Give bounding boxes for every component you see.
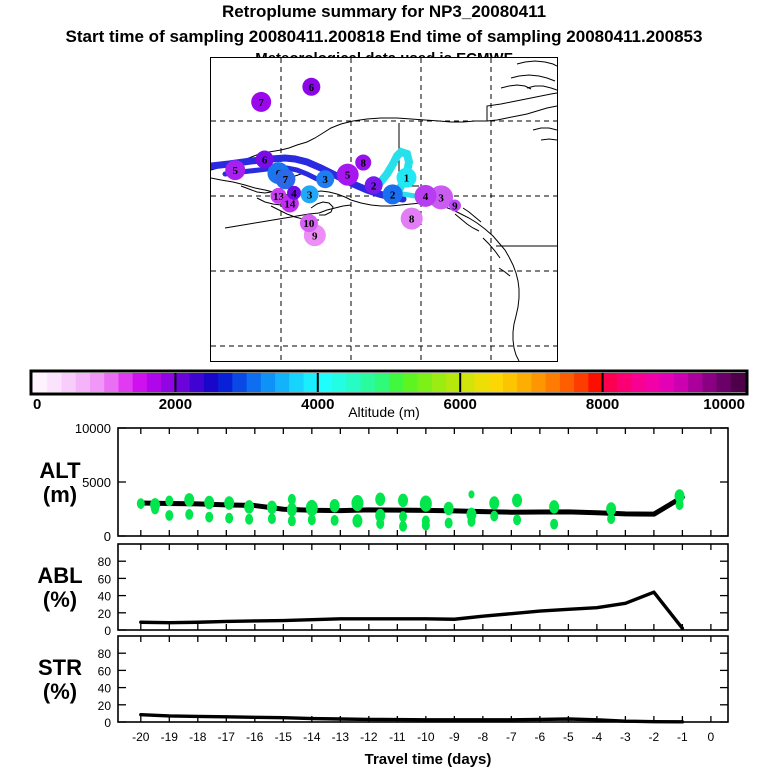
scatter-point (549, 500, 559, 513)
scatter-point (288, 515, 296, 526)
scatter-point (445, 518, 453, 529)
colorbar-swatch (218, 373, 233, 392)
colorbar-swatch (204, 373, 219, 392)
panels-canvas: 0500010000ALT(m)020406080ABL(%)020406080… (0, 420, 768, 768)
scatter-point (513, 514, 521, 525)
plume-centroid[interactable]: 6 (256, 151, 274, 169)
scatter-point (375, 493, 385, 507)
colorbar-swatch (517, 373, 532, 392)
colorbar-swatch (275, 373, 290, 392)
y-tick-label: 40 (98, 682, 112, 696)
colorbar-swatch (617, 373, 632, 392)
x-tick-label: -19 (161, 730, 179, 744)
colorbar-swatch (731, 373, 746, 392)
scatter-point (468, 490, 474, 498)
x-tick-label: -20 (132, 730, 150, 744)
scatter-point (489, 496, 499, 510)
colorbar-swatch (674, 373, 689, 392)
plume-centroid-label: 10 (303, 218, 315, 230)
plume-centroid-label: 1 (404, 173, 410, 185)
scatter-point (244, 500, 254, 513)
plume-centroid-label: 3 (322, 174, 328, 186)
colorbar-swatch (318, 373, 333, 392)
colorbar-swatch (61, 373, 76, 392)
scatter-point (512, 494, 522, 508)
colorbar-swatch (574, 373, 589, 392)
scatter-point (308, 514, 316, 525)
colorbar-swatch (47, 373, 62, 392)
colorbar-swatch (361, 373, 376, 392)
plume-centroid-label: 5 (345, 170, 351, 182)
colorbar-swatch (417, 373, 432, 392)
plume-centroid-label: 4 (423, 191, 429, 203)
scatter-point (352, 514, 362, 528)
y-tick-label: 0 (104, 624, 111, 638)
colorbar-swatch (588, 373, 603, 392)
panel-row-label: ABL (37, 563, 82, 588)
colorbar-swatch (232, 373, 247, 392)
plume-centroid[interactable]: 2 (365, 176, 383, 194)
scatter-point (398, 494, 408, 508)
plume-centroid-label: 9 (452, 201, 458, 213)
scatter-point (165, 496, 173, 507)
plume-centroid[interactable]: 10 (300, 214, 318, 232)
colorbar-swatch (460, 373, 475, 392)
colorbar-swatch (332, 373, 347, 392)
x-tick-label: -9 (449, 730, 460, 744)
plume-centroid[interactable]: 3 (301, 185, 319, 203)
panel-row-label: STR (38, 655, 82, 680)
scatter-point (550, 519, 558, 530)
plume-centroid-label: 6 (309, 82, 315, 94)
scatter-point (331, 515, 339, 526)
y-tick-label: 10000 (75, 421, 111, 436)
colorbar-swatch (346, 373, 361, 392)
x-tick-label: -8 (478, 730, 489, 744)
plume-centroid-label: 7 (283, 174, 289, 186)
y-tick-label: 80 (98, 555, 112, 569)
y-tick-label: 5000 (82, 475, 111, 490)
plume-centroid[interactable]: 7 (251, 92, 271, 112)
plume-centroid-label: 7 (258, 97, 264, 109)
colorbar-swatch (289, 373, 304, 392)
colorbar-swatch (304, 373, 319, 392)
y-tick-label: 40 (98, 590, 112, 604)
colorbar-swatch (660, 373, 675, 392)
altitude-panel: 0500010000ALT(m) (39, 421, 728, 544)
x-tick-label: -3 (620, 730, 631, 744)
colorbar-swatch (389, 373, 404, 392)
scatter-point (151, 504, 159, 515)
panel-row-unit: (m) (43, 482, 77, 507)
colorbar-swatches (31, 371, 747, 394)
map-canvas: 1234567891013145676834329 (211, 58, 557, 361)
scatter-point (268, 513, 276, 524)
panel-row-label: ALT (39, 458, 81, 483)
plume-centroid-label: 3 (307, 189, 313, 201)
colorbar-swatch (33, 373, 48, 392)
colorbar-tick-label: 10000 (703, 396, 745, 413)
plume-centroid-label: 2 (371, 180, 377, 192)
colorbar-tick-label: 4000 (301, 396, 334, 413)
retroplume-map[interactable]: 1234567891013145676834329 (210, 57, 558, 362)
plume-centroid[interactable]: 5 (225, 160, 245, 180)
colorbar-swatch (688, 373, 703, 392)
colorbar-swatch (717, 373, 732, 392)
y-tick-label: 80 (98, 647, 112, 661)
colorbar-tick-label: 6000 (444, 396, 477, 413)
colorbar-swatch (247, 373, 262, 392)
colorbar-swatch (261, 373, 276, 392)
x-tick-label: -7 (506, 730, 517, 744)
x-tick-label: -12 (360, 730, 378, 744)
colorbar-swatch (702, 373, 717, 392)
colorbar-swatch (147, 373, 162, 392)
colorbar-swatch (403, 373, 418, 392)
plume-centroid-label: 4 (291, 188, 297, 200)
plume-centroid[interactable]: 4 (415, 185, 437, 207)
x-axis-title: Travel time (days) (365, 751, 492, 768)
plume-centroid[interactable]: 8 (355, 155, 371, 171)
plume-centroid[interactable]: 6 (302, 78, 320, 96)
colorbar-swatch (161, 373, 176, 392)
plume-centroid[interactable]: 8 (401, 208, 423, 230)
panel-row-unit: (%) (43, 587, 77, 612)
colorbar-swatch (474, 373, 489, 392)
x-tick-label: -5 (563, 730, 574, 744)
colorbar-canvas: 0200040006000800010000 Altitude (m) (0, 365, 768, 420)
colorbar-swatch (76, 373, 91, 392)
sampling-times: Start time of sampling 20080411.200818 E… (0, 27, 768, 47)
plume-centroid[interactable]: 4 (287, 186, 301, 200)
retroplume-centroids[interactable]: 1234567891013145676834329 (225, 78, 461, 246)
scatter-point (245, 514, 253, 525)
x-tick-label: -14 (303, 730, 321, 744)
x-tick-label: -11 (389, 730, 406, 744)
colorbar-swatch (503, 373, 518, 392)
colorbar-tick-label: 0 (33, 396, 41, 413)
plume-centroid[interactable]: 1 (396, 168, 416, 188)
x-tick-label: -16 (246, 730, 264, 744)
x-tick-label: -15 (275, 730, 293, 744)
scatter-point (224, 496, 234, 510)
plume-centroid-label: 5 (232, 165, 238, 177)
timeseries-panels: 0500010000ALT(m)020406080ABL(%)020406080… (0, 420, 768, 768)
colorbar-swatch (175, 373, 190, 392)
colorbar: 0200040006000800010000 Altitude (m) (0, 365, 768, 420)
colorbar-swatch (560, 373, 575, 392)
x-tick-label: -10 (417, 730, 435, 744)
y-tick-label: 60 (98, 664, 112, 678)
scatter-point (376, 518, 384, 529)
scatter-point (267, 501, 277, 515)
plume-centroid-label: 14 (284, 198, 296, 210)
x-tick-label: -6 (535, 730, 546, 744)
plume-centroid-label: 3 (438, 192, 444, 204)
scatter-point (490, 511, 498, 522)
colorbar-swatch (375, 373, 390, 392)
colorbar-swatch (446, 373, 461, 392)
scatter-point (137, 498, 145, 509)
y-tick-label: 20 (98, 699, 112, 713)
y-tick-label: 0 (104, 716, 111, 730)
plume-centroid[interactable]: 2 (383, 184, 403, 204)
plume-centroid-label: 6 (262, 155, 268, 167)
page-title: Retroplume summary for NP3_20080411 (0, 2, 768, 22)
str-panel: 020406080STR(%) (38, 636, 728, 730)
scatter-point (422, 520, 430, 531)
plume-centroid-label: 9 (312, 230, 318, 242)
x-tick-label: -17 (218, 730, 236, 744)
colorbar-swatch (133, 373, 148, 392)
x-tick-label: 0 (708, 730, 715, 744)
colorbar-swatch (489, 373, 504, 392)
colorbar-tick-label: 2000 (159, 396, 192, 413)
colorbar-swatch (645, 373, 660, 392)
colorbar-swatch (603, 373, 618, 392)
x-tick-label: -18 (189, 730, 207, 744)
colorbar-swatch (432, 373, 447, 392)
colorbar-swatch (531, 373, 546, 392)
scatter-point (330, 499, 340, 513)
scatter-point (287, 503, 297, 516)
panel-frame (118, 544, 728, 630)
colorbar-swatch (90, 373, 105, 392)
scatter-point (185, 509, 193, 520)
state-borders (399, 123, 557, 246)
plume-centroid[interactable]: 5 (337, 164, 359, 186)
colorbar-swatch (104, 373, 119, 392)
colorbar-tick-label: 8000 (586, 396, 619, 413)
plume-centroid-label: 2 (390, 189, 396, 201)
plume-centroid-label: 8 (409, 214, 415, 226)
panel-row-unit: (%) (43, 679, 77, 704)
scatter-point (467, 516, 475, 527)
scatter-point (399, 521, 407, 532)
y-tick-label: 60 (98, 572, 112, 586)
y-tick-label: 20 (98, 607, 112, 621)
scatter-point (165, 510, 173, 521)
x-tick-label: -13 (332, 730, 350, 744)
x-tick-label: -2 (649, 730, 660, 744)
scatter-point (444, 502, 454, 516)
plume-centroid[interactable]: 3 (316, 170, 334, 188)
scatter-point (204, 496, 214, 510)
colorbar-swatch (546, 373, 561, 392)
scatter-point (676, 499, 684, 510)
scatter-point (205, 512, 213, 523)
scatter-point (184, 493, 194, 507)
y-tick-label: 0 (104, 529, 111, 544)
panel-frame (118, 636, 728, 722)
abl-panel: 020406080ABL(%) (37, 544, 728, 638)
colorbar-swatch (631, 373, 646, 392)
colorbar-swatch (190, 373, 205, 392)
colorbar-title: Altitude (m) (348, 404, 420, 420)
colorbar-swatch (118, 373, 133, 392)
scatter-point (225, 513, 233, 524)
plume-centroid[interactable]: 9 (449, 200, 461, 213)
x-tick-label: -1 (677, 730, 688, 744)
scatter-point (306, 500, 318, 516)
scatter-point (607, 513, 615, 524)
x-tick-label: -4 (592, 730, 603, 744)
scatter-point (399, 511, 407, 522)
scatter-point (351, 495, 363, 511)
scatter-point (420, 496, 432, 512)
plume-centroid-label: 8 (360, 158, 366, 170)
